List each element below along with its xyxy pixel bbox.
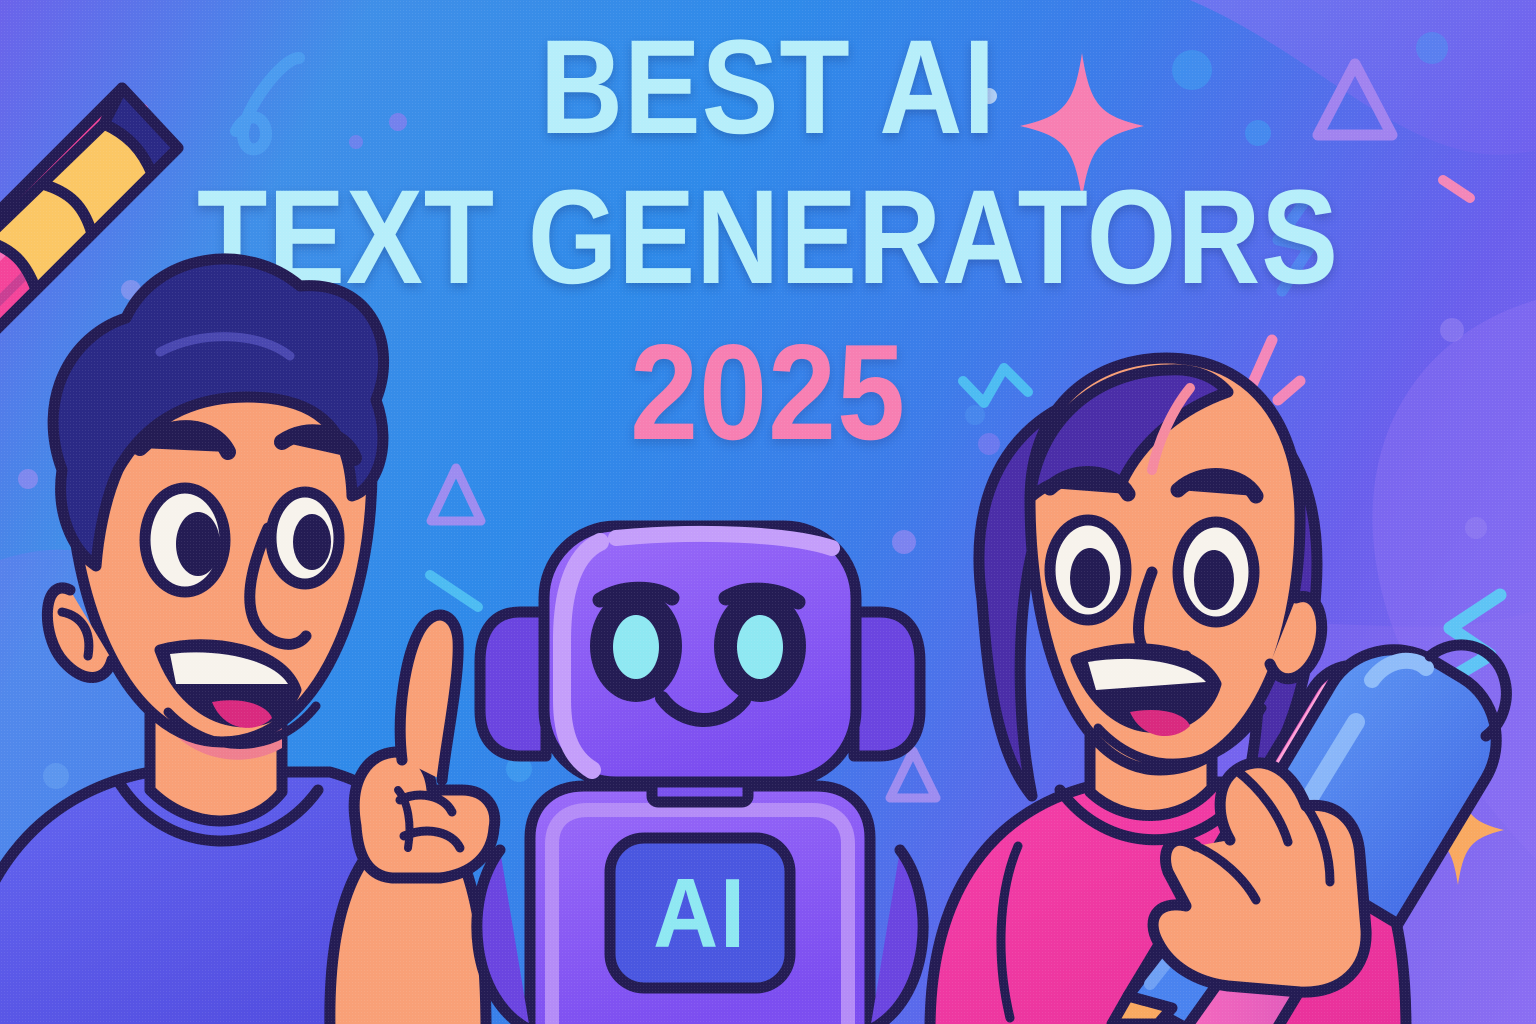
character-woman	[930, 358, 1506, 1024]
poster-canvas: BEST AI TEXT GENERATORS 2025	[0, 0, 1536, 1024]
character-man	[0, 259, 495, 1024]
robot-ai-badge: AI	[610, 838, 790, 988]
robot-ai-badge-label: AI	[653, 857, 747, 970]
